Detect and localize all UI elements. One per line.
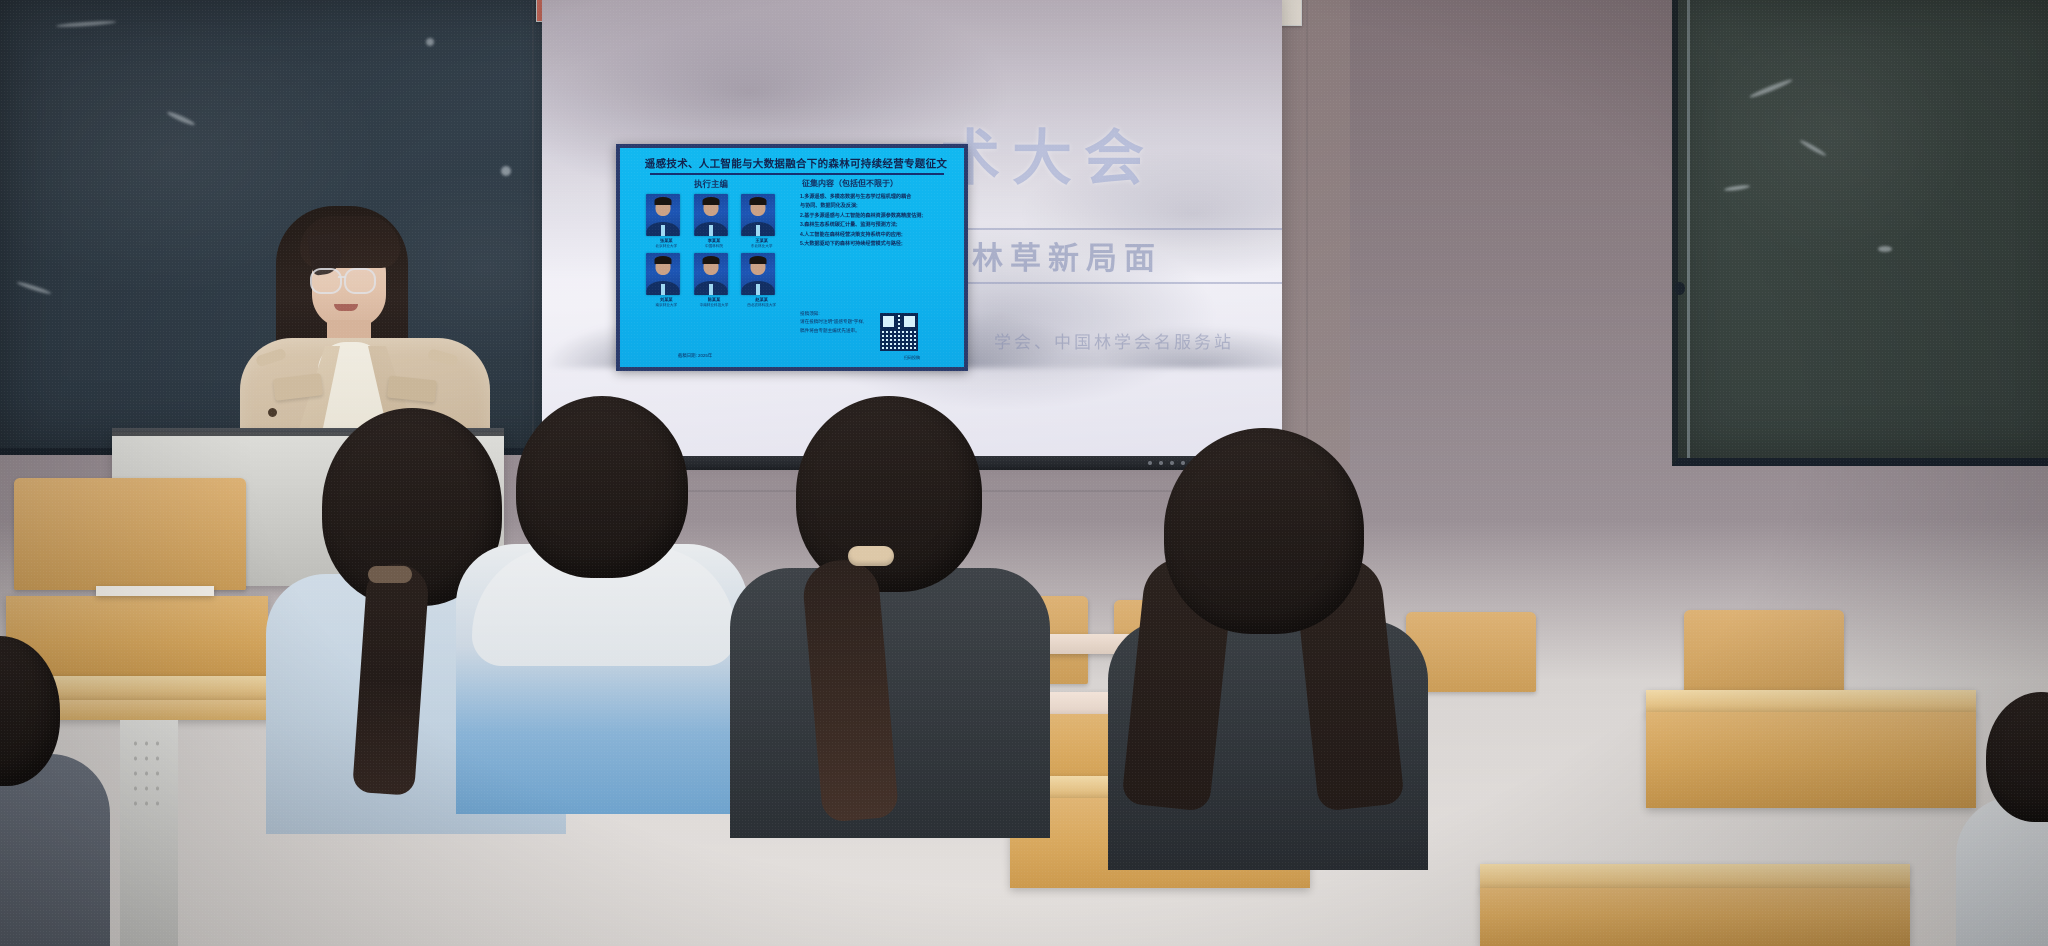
chalk-smudge [166, 110, 195, 127]
editor-portrait-cell: 王某某 东北林业大学 [741, 194, 782, 249]
indicator-dot [1148, 461, 1152, 465]
indicator-dot [1159, 461, 1163, 465]
portrait-tie [709, 284, 713, 295]
student-head [516, 396, 688, 578]
slide-scope-line: 2.基于多源遥感与人工智能的森林资源参数高精度估测; [800, 212, 960, 221]
portrait-tie [756, 225, 760, 236]
hair-tie [848, 546, 894, 566]
editor-portrait-cell: 李某某 中国林科院 [694, 194, 735, 249]
conference-title: 术大会 [940, 110, 1156, 197]
portrait-hair [655, 256, 672, 264]
portrait-tie [661, 284, 665, 295]
conference-subtitle: 林草新局面 [972, 233, 1162, 278]
conference-subtitle-rule-bottom [930, 282, 1282, 284]
conference-organizer: 学会、中国林学会名服务站 [994, 328, 1234, 353]
qr-code[interactable] [880, 313, 918, 351]
editor-affiliation: 中南林业科技大学 [694, 303, 735, 308]
chalk-smudge [1878, 246, 1892, 252]
editor-affiliation: 东北林业大学 [741, 244, 782, 249]
slide-scope-heading: 征集内容（包括但不限于） [802, 178, 952, 189]
editor-portrait-cell: 陈某某 中南林业科技大学 [694, 253, 735, 308]
editor-portrait-cell: 刘某某 南京林业大学 [646, 253, 687, 308]
editor-portrait-grid: 张某某 北京林业大学 李某某 中国林科院 王某某 东北林业大学 刘某某 南京林业… [646, 194, 782, 308]
indicator-dot [1181, 461, 1185, 465]
indicator-dot [1170, 461, 1174, 465]
chalk-smudge [1724, 184, 1750, 192]
board-knob [1674, 282, 1685, 295]
eyeglasses-left-lens [310, 268, 342, 294]
slide-title: 遥感技术、人工智能与大数据融合下的森林可持续经营专题征文 [634, 156, 958, 171]
desk-paper [96, 586, 214, 596]
portrait-hair [750, 256, 767, 264]
board-frame-highlight [1687, 0, 1690, 458]
editor-affiliation: 北京林业大学 [646, 244, 687, 249]
editor-portrait-cell: 张某某 北京林业大学 [646, 194, 687, 249]
desk-front-panel [1480, 888, 1910, 946]
desk-front-panel [1646, 712, 1976, 808]
presenter-mouth [334, 304, 358, 311]
projected-slide[interactable]: 遥感技术、人工智能与大数据融合下的森林可持续经营专题征文 执行主编 征集内容（包… [616, 144, 968, 371]
coat-button [268, 408, 277, 417]
classroom-photo: 术大会 林草新局面 学会、中国林学会名服务站 遥感技术、人工智能与大数据融合下的… [0, 0, 2048, 946]
slide-scope-list: 1.多源遥感、多模态数据与生态学过程机理的耦合 与协同、数据同化及反演; 2.基… [800, 193, 960, 250]
slide-canvas: 遥感技术、人工智能与大数据融合下的森林可持续经营专题征文 执行主编 征集内容（包… [620, 148, 964, 367]
eyeglasses-bridge [338, 276, 346, 278]
eyeglasses-right-lens [344, 268, 376, 294]
chalk-smudge [1749, 78, 1794, 100]
editor-affiliation: 南京林业大学 [646, 303, 687, 308]
slide-editors-heading: 执行主编 [656, 178, 766, 190]
student-head [1164, 428, 1364, 634]
slide-footer: 截稿日期: 2025年 [678, 353, 712, 359]
portrait-photo [694, 253, 728, 295]
slide-scope-line: 4.人工智能在森林经营决策支持系统中的应用; [800, 231, 960, 240]
slide-scope-line: 5.大数据驱动下的森林可持续经营模式与路径; [800, 240, 960, 249]
portrait-hair [655, 197, 672, 205]
portrait-hair [702, 197, 719, 205]
slide-scope-line: 与协同、数据同化及反演; [800, 202, 960, 211]
chair-back [14, 478, 246, 590]
slide-title-underline [650, 173, 944, 175]
portrait-tie [661, 225, 665, 236]
chalk-smudge [56, 20, 116, 28]
portrait-photo [646, 253, 680, 295]
chalk-smudge [501, 166, 511, 176]
desk-leg [120, 720, 178, 946]
portrait-photo [741, 194, 775, 236]
desk-leg-vent-holes [130, 736, 164, 806]
chalk-smudge [16, 281, 51, 296]
chalk-smudge [426, 38, 434, 46]
portrait-photo [741, 253, 775, 295]
portrait-photo [646, 194, 680, 236]
slide-scope-line: 3.森林生态系统碳汇计量、监测与预测方法; [800, 221, 960, 230]
slide-scope-line: 1.多源遥感、多模态数据与生态学过程机理的耦合 [800, 193, 960, 202]
hair-tie [368, 566, 412, 583]
editor-affiliation: 西北农林科技大学 [741, 303, 782, 308]
portrait-hair [702, 256, 719, 264]
right-chalkboard [1672, 0, 2048, 466]
editor-portrait-cell: 赵某某 西北农林科技大学 [741, 253, 782, 308]
chair-back [1684, 610, 1844, 700]
portrait-photo [694, 194, 728, 236]
editor-affiliation: 中国林科院 [694, 244, 735, 249]
portrait-tie [756, 284, 760, 295]
qr-caption: 扫码投稿 [904, 355, 920, 361]
chalk-smudge [1799, 139, 1827, 157]
conference-subtitle-rule-top [930, 228, 1282, 230]
portrait-hair [750, 197, 767, 205]
portrait-tie [709, 225, 713, 236]
